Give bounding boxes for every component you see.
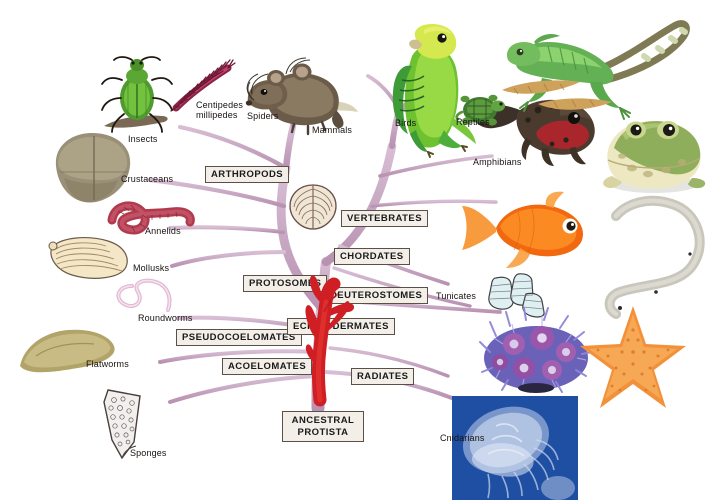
taxon-label-mammals: Mammals [312,125,352,136]
green-parakeet-illustration [366,22,478,154]
red-coral-trunk-illustration [294,272,360,402]
taxon-label-tunicates: Tunicates [436,291,476,302]
taxon-label-sponges: Sponges [130,448,167,459]
taxon-label-annelids: Annelids [145,226,181,237]
taxon-label-amphibians: Amphibians [473,157,522,168]
taxon-label-reptiles: Reptiles [456,117,490,128]
taxon-label-mollusks: Mollusks [133,263,169,274]
taxon-label-roundworms: Roundworms [138,313,193,324]
goldfish-illustration [460,188,596,270]
clade-label-radiates[interactable]: RADIATES [351,368,414,385]
lancelet-illustration [586,196,712,318]
taxon-label-spiders: Spiders [247,111,279,122]
taxon-label-cnidarians: Cnidarians [440,433,485,444]
taxon-label-flatworms: Flatworms [86,359,129,370]
clade-label-vertebrates[interactable]: VERTEBRATES [341,210,428,227]
sea-anemone-illustration [480,306,592,392]
brachiopod-shell-illustration [286,182,340,232]
taxon-label-crustaceans: Crustaceans [121,174,173,185]
taxon-label-insects: Insects [128,134,158,145]
moon-jellyfish-panel [452,396,578,500]
green-beetle-illustration [100,56,174,134]
horseshoe-crab-illustration [44,126,140,208]
taxon-label-birds: Birds [395,118,416,129]
clade-label-ancestral-protista[interactable]: ANCESTRAL PROTISTA [282,411,364,442]
clade-label-pseudocoelomates[interactable]: PSEUDOCOELOMATES [176,329,302,346]
clade-label-arthropods[interactable]: ARTHROPODS [205,166,289,183]
clade-label-chordates[interactable]: CHORDATES [334,248,410,265]
phylogenetic-tree-figure: ARTHROPODS VERTEBRATES CHORDATES PROTOSO… [0,0,720,500]
taxon-label-centipedes-millipedes: Centipedes millipedes [196,100,243,120]
green-iguana-illustration [494,16,712,122]
